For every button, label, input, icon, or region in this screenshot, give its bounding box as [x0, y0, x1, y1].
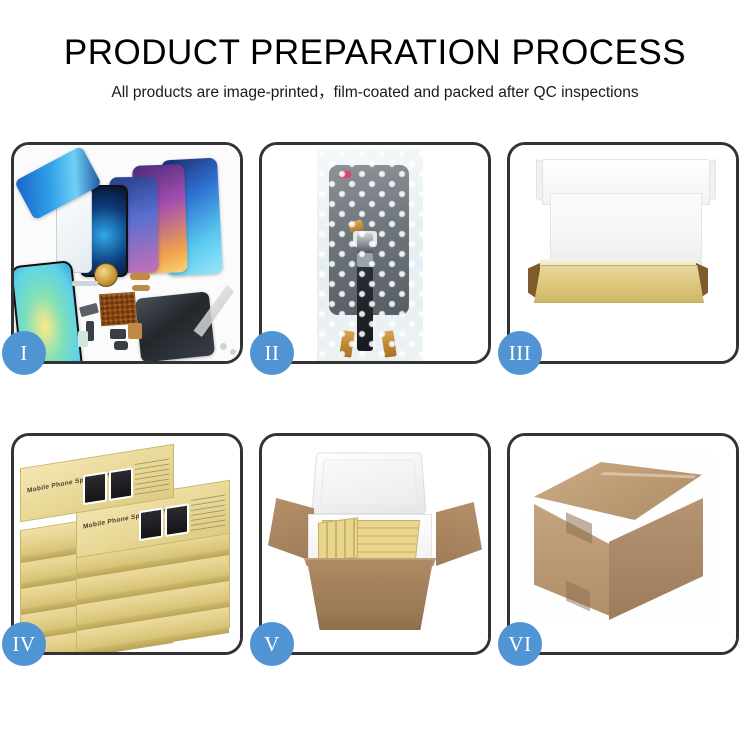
step-image-6: [510, 436, 736, 652]
foam-lid-icon: [311, 453, 426, 515]
step-card-4[interactable]: Mobile Phone Spare Parts Mobile Phone Sp…: [11, 433, 243, 655]
step-badge-6: VI: [498, 622, 542, 666]
yellow-boxes-left-icon: [318, 517, 358, 563]
box-art-screen-front-2-icon: [83, 471, 107, 505]
box-spec-list-icon: [191, 494, 225, 531]
step-badge-3: III: [498, 331, 542, 375]
step-badge-1: I: [2, 331, 46, 375]
scene-stacked-retail-boxes: Mobile Phone Spare Parts Mobile Phone Sp…: [14, 436, 240, 652]
step-image-2: [262, 145, 488, 361]
page-subtitle: All products are image-printed，film-coat…: [0, 82, 750, 104]
box-art-screen-back-icon: [165, 503, 189, 537]
page-title: PRODUCT PREPARATION PROCESS: [0, 32, 750, 74]
scene-bubble-wrapped-screen: [262, 145, 488, 361]
chip-array-icon: [99, 292, 137, 326]
part-speaker-icon: [110, 329, 126, 339]
foam-sheet-icon: [550, 193, 702, 267]
part-connector-2-icon: [132, 285, 150, 291]
page-header: PRODUCT PREPARATION PROCESS All products…: [0, 0, 750, 104]
step-badge-5: V: [250, 622, 294, 666]
box-front-panel-icon: [534, 265, 704, 303]
part-battery-icon: [78, 331, 88, 347]
part-strip-icon: [72, 281, 98, 286]
step-image-3: [510, 145, 736, 361]
carton-flap-right-icon: [436, 502, 482, 566]
scene-carton-loading: [262, 436, 488, 652]
bubble-texture-icon: [317, 149, 423, 361]
step-image-4: Mobile Phone Spare Parts Mobile Phone Sp…: [14, 436, 240, 652]
box-art-screen-back-2-icon: [109, 467, 133, 501]
step-badge-2: II: [250, 331, 294, 375]
step-badge-4: IV: [2, 622, 46, 666]
step-card-1[interactable]: I: [11, 142, 243, 364]
step-image-5: [262, 436, 488, 652]
step-card-6[interactable]: VI: [507, 433, 739, 655]
step-card-3[interactable]: III: [507, 142, 739, 364]
scene-sealed-carton: [510, 436, 736, 652]
part-button-icon: [114, 341, 128, 350]
part-camera-module-icon: [128, 323, 142, 339]
scene-open-kraft-box: [510, 145, 736, 361]
step-image-1: [14, 145, 240, 361]
box-spec-list-2-icon: [135, 458, 169, 495]
carton-body-icon: [300, 560, 440, 630]
box-art-screen-front-icon: [139, 507, 163, 541]
bubble-wrap-bag-icon: [317, 149, 423, 361]
scene-phones-and-parts: [14, 145, 240, 361]
part-screw-icon: [220, 343, 227, 350]
process-steps-grid: I II: [11, 142, 739, 655]
part-connector-icon: [130, 273, 150, 280]
part-screw-2-icon: [230, 349, 236, 355]
step-card-2[interactable]: II: [259, 142, 491, 364]
step-card-5[interactable]: V: [259, 433, 491, 655]
